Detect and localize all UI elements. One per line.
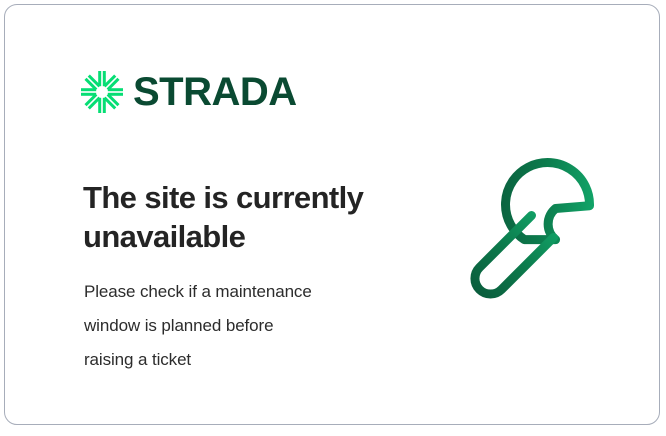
- description-line: Please check if a maintenance: [84, 275, 404, 309]
- strada-asterisk-icon: [81, 71, 123, 113]
- maintenance-card: STRADA The site is currently unavailable…: [4, 4, 660, 425]
- page-description: Please check if a maintenance window is …: [84, 275, 404, 377]
- brand-wordmark: STRADA: [133, 72, 297, 112]
- page-title: The site is currently unavailable: [83, 178, 433, 257]
- description-line: window is planned before: [84, 309, 404, 343]
- maintenance-page: STRADA The site is currently unavailable…: [0, 0, 666, 436]
- description-line: raising a ticket: [84, 343, 404, 377]
- brand-logo: STRADA: [81, 71, 297, 113]
- wrench-icon: [457, 153, 623, 319]
